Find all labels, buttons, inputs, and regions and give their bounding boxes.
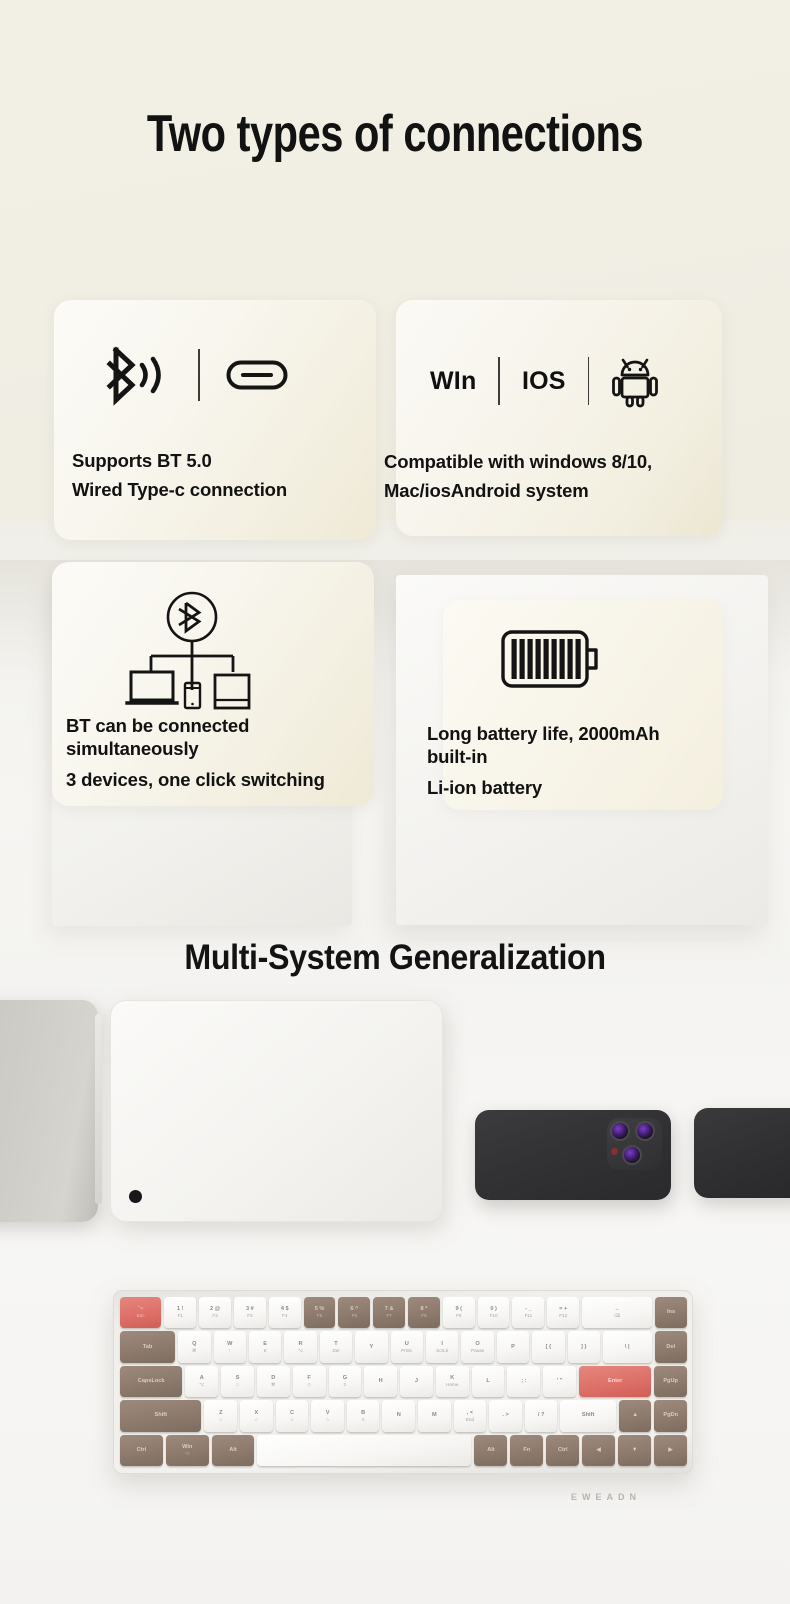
keycap-sublegend: ≡ — [362, 1417, 365, 1423]
keycap[interactable]: X☆ — [240, 1400, 273, 1431]
keycap[interactable]: ▲ — [619, 1400, 652, 1431]
keyboard-row: `~Esc1 !F12 @F23 #F34 $F45 %F56 ^F67 &F7… — [120, 1297, 687, 1328]
keycap-legend: - _ — [525, 1306, 532, 1313]
keycap-legend: PgDn — [663, 1412, 678, 1419]
keycap-legend: 4 $ — [281, 1306, 289, 1313]
bluetooth-waves-icon — [102, 344, 172, 406]
keycap[interactable]: Alt — [474, 1435, 507, 1466]
keycap-legend: H — [379, 1378, 383, 1385]
keycap-sublegend: End — [466, 1417, 474, 1423]
keycap-sublegend: ↑ — [229, 1348, 231, 1354]
keycap[interactable]: Ctrl — [120, 1435, 163, 1466]
keycap-legend: `~ — [138, 1306, 143, 1313]
tablet-icon — [215, 675, 249, 708]
windows-label: WIn — [430, 367, 476, 396]
keycap[interactable]: 3 #F3 — [234, 1297, 266, 1328]
keycap[interactable]: ' " — [543, 1366, 576, 1397]
keycap[interactable]: M — [418, 1400, 451, 1431]
keycap[interactable]: 7 &F7 — [373, 1297, 405, 1328]
keycap[interactable]: Ctrl — [546, 1435, 579, 1466]
camera-lens-3 — [622, 1145, 642, 1165]
card2-description: Compatible with windows 8/10, Mac/iosAnd… — [384, 448, 652, 505]
keycap-legend: Del — [666, 1344, 675, 1351]
keycap-legend: ▶ — [668, 1447, 672, 1454]
keycap[interactable]: G≡ — [329, 1366, 362, 1397]
keycap-legend: V — [326, 1410, 330, 1417]
keycap-sublegend: F4 — [282, 1313, 287, 1319]
keycap[interactable]: P — [497, 1331, 529, 1362]
keycap[interactable]: CapsLock — [120, 1366, 182, 1397]
keycap-legend: Alt — [229, 1447, 236, 1454]
keycap-legend: C — [290, 1410, 294, 1417]
keycap[interactable]: - _F11 — [512, 1297, 544, 1328]
keycap[interactable]: [ { — [532, 1331, 564, 1362]
keycap[interactable]: 8 *F8 — [408, 1297, 440, 1328]
keycap-sublegend: ☆ — [290, 1417, 294, 1423]
keycap-sublegend: F8 — [421, 1313, 426, 1319]
keycap-sublegend: Home — [446, 1382, 458, 1388]
card3-line-3: 3 devices, one click switching — [66, 768, 325, 791]
keycap-legend: F — [307, 1375, 310, 1382]
keycap-legend: A — [200, 1375, 204, 1382]
keycap-legend: 7 & — [385, 1306, 394, 1313]
card1-line-1: Supports BT 5.0 — [72, 447, 287, 476]
keycap-sublegend: ⌫ — [614, 1313, 621, 1319]
keycap-sublegend: F7 — [386, 1313, 391, 1319]
keycap-legend: Enter — [608, 1378, 622, 1385]
keycap[interactable]: F◇ — [293, 1366, 326, 1397]
keycap-legend: [ { — [546, 1344, 552, 1351]
keycap-legend: 9 ( — [456, 1306, 463, 1313]
keycap-sublegend: ScrLk — [436, 1348, 448, 1354]
camera-lens-1 — [610, 1121, 630, 1141]
keycap[interactable]: / ? — [525, 1400, 558, 1431]
keycap-sublegend: F5 — [317, 1313, 322, 1319]
feature-card-os-compatibility[interactable]: WIn IOS Compatible with windows 8/10, Ma… — [396, 300, 722, 536]
keycap[interactable]: TDel — [320, 1331, 352, 1362]
keycap[interactable]: Enter — [579, 1366, 651, 1397]
keycap[interactable]: UPrtSc — [391, 1331, 423, 1362]
keycap-legend: Ctrl — [558, 1447, 568, 1454]
keycap-sublegend: ◇ — [307, 1382, 311, 1388]
keycap-legend: G — [343, 1375, 347, 1382]
keycap-sublegend: F9 — [456, 1313, 461, 1319]
feature-card-multi-device[interactable]: BT can be connected simultaneously 3 dev… — [52, 562, 374, 806]
keycap-legend: P — [511, 1344, 515, 1351]
keycap[interactable]: KHome — [436, 1366, 469, 1397]
keycap[interactable]: 6 ^F6 — [338, 1297, 370, 1328]
keycap-legend: ] } — [581, 1344, 587, 1351]
keyboard-rows: `~Esc1 !F12 @F23 #F34 $F45 %F56 ^F67 &F7… — [120, 1297, 687, 1466]
keycap[interactable]: Y — [355, 1331, 387, 1362]
card1-icon-row — [102, 344, 288, 406]
product-marketing-page: Two types of connections Supports BT 5.0… — [0, 0, 790, 1604]
keycap[interactable]: N — [382, 1400, 415, 1431]
feature-card-battery[interactable]: Long battery life, 2000mAh built-in Li-i… — [443, 600, 723, 810]
camera-lens-2 — [635, 1121, 655, 1141]
keycap-legend: O — [475, 1341, 479, 1348]
card1-description: Supports BT 5.0 Wired Type-c connection — [72, 447, 287, 504]
keycap-legend: CapsLock — [138, 1378, 165, 1385]
camera-flash — [611, 1148, 618, 1155]
keycap-legend: 1 ! — [177, 1306, 184, 1313]
keycap[interactable]: C☆ — [276, 1400, 309, 1431]
keycap-sublegend: PrtSc — [401, 1348, 412, 1354]
keycap-legend: Alt — [487, 1447, 494, 1454]
keycap[interactable]: ▼ — [618, 1435, 651, 1466]
keycap-legend: = + — [559, 1306, 567, 1313]
keycap[interactable]: ▶ — [654, 1435, 687, 1466]
card2-line-1: Compatible with windows 8/10, — [384, 448, 652, 477]
card3-line-2: simultaneously — [66, 737, 325, 760]
keycap-legend: 6 ^ — [350, 1306, 358, 1313]
keycap[interactable]: PgDn — [654, 1400, 687, 1431]
keycap[interactable]: Ins — [655, 1297, 687, 1328]
keycap[interactable]: Tab — [120, 1331, 175, 1362]
keycap-sublegend: ☆ — [254, 1417, 258, 1423]
keycap-legend: D — [271, 1375, 275, 1382]
keycap-sublegend: F6 — [352, 1313, 357, 1319]
usb-c-port-icon — [226, 360, 288, 390]
keycap-legend: ← — [614, 1306, 620, 1313]
keycap[interactable]: D⌘ — [257, 1366, 290, 1397]
card3-description: BT can be connected simultaneously 3 dev… — [66, 714, 325, 791]
keycap-sublegend: ⌥ — [298, 1348, 303, 1354]
keycap[interactable]: PgUp — [654, 1366, 687, 1397]
keycap[interactable]: B≡ — [347, 1400, 380, 1431]
keycap[interactable]: `~Esc — [120, 1297, 161, 1328]
keycap-sublegend: F12 — [559, 1313, 567, 1319]
card2-icon-row: WIn IOS — [430, 352, 659, 410]
keycap-legend: ; : — [521, 1378, 526, 1385]
card4-line-2: built-in — [427, 745, 660, 768]
card2-divider-1 — [498, 357, 500, 405]
keycap-legend: 3 # — [246, 1306, 254, 1313]
keycap-legend: . > — [502, 1412, 508, 1419]
feature-card-bluetooth-wired[interactable]: Supports BT 5.0 Wired Type-c connection — [54, 300, 376, 540]
keycap[interactable]: IScrLk — [426, 1331, 458, 1362]
device-laptop-silver — [0, 1000, 98, 1222]
keycap-legend: E — [263, 1341, 267, 1348]
product-keyboard: `~Esc1 !F12 @F23 #F34 $F45 %F56 ^F67 &F7… — [113, 1290, 693, 1474]
keycap[interactable]: Z☆ — [204, 1400, 237, 1431]
keycap-legend: Shift — [155, 1412, 167, 1419]
keyboard-row: TabQ⌘W↑E€R⌥TDelYUPrtScIScrLkOPauseP[ {] … — [120, 1331, 687, 1362]
keycap[interactable] — [257, 1435, 471, 1466]
phone-camera-module — [607, 1118, 662, 1170]
keycap-legend: T — [334, 1341, 337, 1348]
keycap[interactable]: ◀ — [582, 1435, 615, 1466]
battery-full-icon — [501, 630, 601, 688]
keycap[interactable]: 9 (F9 — [443, 1297, 475, 1328]
keycap[interactable]: ←⌫ — [582, 1297, 652, 1328]
keycap-legend: 0 ) — [490, 1306, 497, 1313]
keycap-sublegend: □ — [236, 1382, 239, 1388]
brand-logo: EWEADN — [571, 1492, 641, 1502]
keycap-sublegend: € — [264, 1348, 267, 1354]
keycap[interactable]: 1 !F1 — [164, 1297, 196, 1328]
keycap-sublegend: F10 — [490, 1313, 498, 1319]
keycap[interactable]: Shift — [120, 1400, 201, 1431]
card4-line-3: Li-ion battery — [427, 776, 660, 799]
keycap-sublegend: ⌥ — [199, 1382, 204, 1388]
keycap-legend: Win — [182, 1444, 192, 1451]
keycap-sublegend: Del — [332, 1348, 339, 1354]
keycap-legend: N — [397, 1412, 401, 1419]
device-phone-black-secondary — [694, 1108, 790, 1198]
keycap-sublegend: F1 — [178, 1313, 183, 1319]
keyboard-row: CtrlWin⌥AltAltFnCtrl◀▼▶ — [120, 1435, 687, 1466]
keycap[interactable]: E€ — [249, 1331, 281, 1362]
keycap-legend: L — [486, 1378, 489, 1385]
keycap-legend: Ctrl — [137, 1447, 147, 1454]
keycap-legend: Y — [369, 1344, 373, 1351]
card1-line-2: Wired Type-c connection — [72, 476, 287, 505]
device-tablet-white — [110, 1000, 443, 1222]
keycap-legend: 2 @ — [210, 1306, 220, 1313]
laptop-icon — [127, 672, 177, 703]
keycap-legend: Ins — [667, 1309, 675, 1316]
keycap-legend: Q — [192, 1341, 196, 1348]
card3-line-1: BT can be connected — [66, 714, 325, 737]
keycap[interactable]: ] } — [568, 1331, 600, 1362]
card4-description: Long battery life, 2000mAh built-in Li-i… — [427, 722, 660, 799]
keycap-sublegend: F11 — [525, 1313, 533, 1319]
keycap[interactable]: 2 @F2 — [199, 1297, 231, 1328]
keycap-sublegend: F2 — [212, 1313, 217, 1319]
keycap-sublegend: ⌘ — [192, 1348, 197, 1354]
keycap[interactable]: Shift — [560, 1400, 615, 1431]
multi-device-diagram — [114, 590, 314, 720]
card4-line-1: Long battery life, 2000mAh — [427, 722, 660, 745]
keycap-legend: R — [298, 1341, 302, 1348]
tablet-camera-dot — [129, 1190, 142, 1203]
keycap[interactable]: Fn — [510, 1435, 543, 1466]
keycap-legend: M — [432, 1412, 437, 1419]
keycap[interactable]: Q⌘ — [178, 1331, 210, 1362]
keycap[interactable]: ; : — [507, 1366, 540, 1397]
keycap[interactable]: H — [364, 1366, 397, 1397]
keycap-legend: ◀ — [597, 1447, 601, 1454]
keycap[interactable]: R⌥ — [284, 1331, 316, 1362]
keycap[interactable]: Del — [655, 1331, 687, 1362]
keycap[interactable]: 0 )F10 — [478, 1297, 510, 1328]
card1-divider — [198, 349, 200, 401]
keycap[interactable]: W↑ — [214, 1331, 246, 1362]
keycap-sublegend: ⌘ — [271, 1382, 276, 1388]
keycap-legend: K — [450, 1375, 454, 1382]
device-phone-black — [475, 1110, 671, 1200]
keycap[interactable]: . > — [489, 1400, 522, 1431]
keycap[interactable]: , <End — [454, 1400, 487, 1431]
keycap-legend: U — [405, 1341, 409, 1348]
keycap[interactable]: OPause — [461, 1331, 493, 1362]
keycap-sublegend: F3 — [247, 1313, 252, 1319]
keycap-legend: B — [361, 1410, 365, 1417]
keycap-legend: , < — [467, 1410, 473, 1417]
keycap-legend: Tab — [143, 1344, 153, 1351]
keycap[interactable]: A⌥ — [185, 1366, 218, 1397]
bluetooth-circle-icon — [168, 593, 216, 641]
keycap-legend: Z — [219, 1410, 222, 1417]
card2-line-2: Mac/iosAndroid system — [384, 477, 652, 506]
keycap[interactable]: S□ — [221, 1366, 254, 1397]
keycap-legend: ' " — [557, 1378, 563, 1385]
page-title-main: Two types of connections — [79, 104, 711, 164]
keycap-legend: I — [441, 1341, 443, 1348]
keycap[interactable]: Win⌥ — [166, 1435, 209, 1466]
keycap-legend: J — [415, 1378, 418, 1385]
keycap[interactable]: Alt — [212, 1435, 255, 1466]
keyboard-row: ShiftZ☆X☆C☆V☆B≡NM, <End. >/ ?Shift▲PgDn — [120, 1400, 687, 1431]
keycap-sublegend: Esc — [137, 1313, 145, 1319]
keycap-sublegend: ☆ — [326, 1417, 330, 1423]
keycap-legend: Shift — [582, 1412, 594, 1419]
keycap-legend: ▼ — [632, 1447, 638, 1454]
page-title-sub: Multi-System Generalization — [32, 938, 759, 978]
keycap[interactable]: \ | — [603, 1331, 652, 1362]
keycap-legend: \ | — [625, 1344, 630, 1351]
card2-divider-2 — [588, 357, 590, 405]
keycap[interactable]: J — [400, 1366, 433, 1397]
keyboard-row: CapsLockA⌥S□D⌘F◇G≡HJKHomeL; :' "EnterPgU… — [120, 1366, 687, 1397]
keycap-sublegend: ⌥ — [185, 1451, 190, 1457]
keycap-legend: 5 % — [315, 1306, 325, 1313]
keycap[interactable]: = +F12 — [547, 1297, 579, 1328]
android-robot-icon — [611, 355, 659, 407]
keycap-sublegend: ☆ — [219, 1417, 223, 1423]
keycap[interactable]: L — [472, 1366, 505, 1397]
keycap-legend: ▲ — [632, 1412, 638, 1419]
keycap[interactable]: V☆ — [311, 1400, 344, 1431]
keycap[interactable]: 4 $F4 — [269, 1297, 301, 1328]
keycap[interactable]: 5 %F5 — [304, 1297, 336, 1328]
ios-label: IOS — [522, 367, 566, 396]
keycap-legend: S — [236, 1375, 240, 1382]
keycap-legend: 8 * — [421, 1306, 428, 1313]
keycap-legend: Fn — [523, 1447, 530, 1454]
keycap-legend: / ? — [538, 1412, 545, 1419]
keycap-legend: X — [255, 1410, 259, 1417]
keycap-legend: PgUp — [663, 1378, 678, 1385]
keycap-legend: W — [227, 1341, 232, 1348]
keycap-sublegend: Pause — [471, 1348, 484, 1354]
keycap-sublegend: ≡ — [344, 1382, 347, 1388]
